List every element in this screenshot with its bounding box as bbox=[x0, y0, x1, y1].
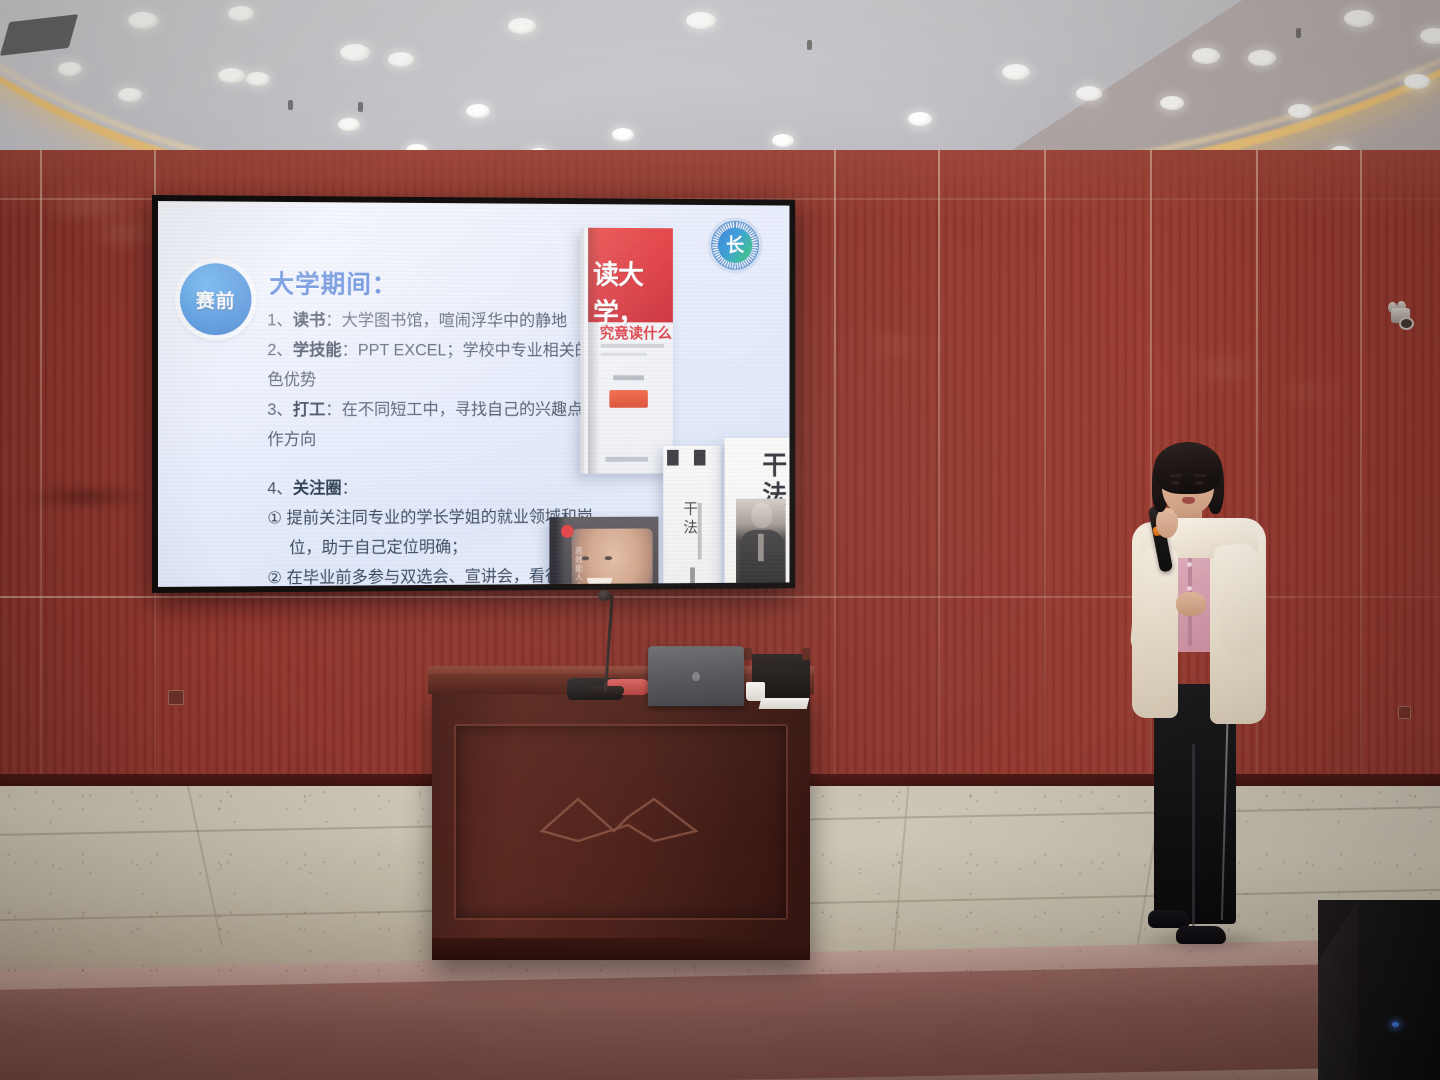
sprinkler-head bbox=[1296, 28, 1301, 38]
laptop-logo-icon bbox=[692, 672, 700, 681]
ceiling-downlight bbox=[612, 128, 634, 141]
wall-outlet bbox=[1398, 706, 1411, 719]
wall-seam bbox=[1360, 150, 1362, 790]
book-line bbox=[601, 344, 665, 348]
ceiling-downlight bbox=[466, 104, 490, 118]
wall-reflection bbox=[1180, 362, 1266, 376]
ceiling-downlight bbox=[1076, 86, 1102, 101]
ceiling-downlight bbox=[1420, 28, 1440, 44]
floor-foreground-band bbox=[0, 962, 1440, 1080]
floor-subwoofer bbox=[1318, 900, 1440, 1080]
ceiling-downlight bbox=[388, 52, 414, 67]
ceiling-downlight bbox=[340, 44, 370, 61]
book-cover-ganfa-portrait: 干法 bbox=[725, 438, 790, 587]
podium-front-panel bbox=[454, 724, 788, 920]
wall-seam bbox=[834, 150, 836, 790]
ceiling-downlight bbox=[118, 88, 142, 102]
person-hand bbox=[1176, 592, 1206, 616]
ceiling-downlight bbox=[686, 12, 716, 29]
wall-camera-lens bbox=[1399, 317, 1414, 330]
subwoofer-bevel bbox=[1318, 900, 1358, 1080]
book-cover-ganfa-white: 干法 bbox=[663, 446, 721, 587]
book-cover-du-daxue: 读大学， 究竟读什么 bbox=[580, 228, 672, 474]
gooseneck-microphone-head bbox=[598, 590, 611, 601]
portrait-smile bbox=[587, 578, 612, 587]
ceiling-downlight bbox=[772, 134, 794, 147]
projected-slide: 赛前 大学期间： 1、读书：大学图书馆，喧闹浮华中的静地2、学技能：PPT EX… bbox=[158, 201, 789, 587]
floor-grout-line bbox=[893, 786, 910, 956]
person-eye bbox=[1195, 481, 1204, 485]
portrait-tie bbox=[758, 534, 764, 561]
slide-line: 4、关注圈： bbox=[267, 472, 661, 503]
book-author-line bbox=[613, 375, 644, 380]
book-cover-seven-habits: 高效能人士的七个习惯 高效能人士的 7 七个习惯 bbox=[549, 517, 658, 587]
book-line bbox=[698, 503, 702, 560]
laptop[interactable] bbox=[648, 646, 744, 706]
ceiling-downlight bbox=[218, 68, 245, 83]
podium-base bbox=[432, 938, 810, 960]
wall-reflection bbox=[38, 198, 148, 214]
slide-title: 大学期间： bbox=[269, 265, 397, 301]
podium-shadow bbox=[16, 486, 156, 508]
person-mouth bbox=[1182, 497, 1195, 504]
ceiling-downlight bbox=[1288, 104, 1312, 118]
portrait-eye bbox=[605, 556, 613, 560]
book-spine bbox=[588, 228, 600, 474]
person-trouser-seam bbox=[1192, 744, 1195, 926]
person-shoe bbox=[1176, 926, 1226, 944]
book-mark bbox=[667, 450, 679, 466]
stage-badge-label: 赛前 bbox=[196, 286, 236, 313]
sprinkler-head bbox=[288, 100, 293, 110]
ceiling-downlight bbox=[246, 72, 270, 86]
speaker-person bbox=[1118, 444, 1298, 954]
podium-carving bbox=[536, 791, 706, 845]
wall-reflection bbox=[1274, 386, 1348, 398]
person-hair bbox=[1154, 442, 1222, 494]
person-shirt-button bbox=[1187, 562, 1192, 567]
sprinkler-head bbox=[807, 40, 812, 50]
ceiling-downlight bbox=[58, 62, 82, 76]
ceiling-downlight bbox=[1344, 10, 1374, 27]
podium-riser-post bbox=[744, 648, 752, 660]
projection-screen[interactable]: 赛前 大学期间： 1、读书：大学图书馆，喧闹浮华中的静地2、学技能：PPT EX… bbox=[152, 195, 795, 593]
book-line bbox=[690, 567, 695, 587]
book-title-main: 读大学， bbox=[593, 253, 673, 330]
ceiling-downlight bbox=[1192, 48, 1220, 64]
portrait-head bbox=[751, 502, 772, 528]
wall-seam bbox=[1044, 150, 1046, 790]
book-title: 干法 bbox=[680, 501, 700, 538]
book-sticker bbox=[561, 525, 574, 538]
stage-badge: 赛前 bbox=[180, 263, 252, 335]
book-publisher-line bbox=[605, 457, 647, 462]
book-sticker bbox=[609, 390, 648, 408]
person-shirt-button bbox=[1187, 586, 1192, 591]
ceiling-downlight bbox=[1160, 96, 1184, 110]
podium-carving-icon bbox=[536, 791, 706, 845]
presenter-podium[interactable] bbox=[432, 690, 810, 960]
floor-grout-line bbox=[187, 786, 223, 946]
lecture-hall-photo: 赛前 大学期间： 1、读书：大学图书馆，喧闹浮华中的静地2、学技能：PPT EX… bbox=[0, 0, 1440, 1080]
wall-reflection bbox=[860, 340, 930, 352]
wall-seam bbox=[40, 150, 42, 790]
book-mark bbox=[694, 450, 705, 466]
book-spine-text: 高效能人士的七个习惯 bbox=[574, 547, 585, 587]
wall-seam bbox=[938, 150, 940, 790]
university-seal-logo: 长 bbox=[709, 219, 761, 272]
ceiling-downlight bbox=[908, 112, 932, 126]
ceiling-downlight bbox=[508, 18, 536, 34]
podium-riser-post bbox=[802, 648, 810, 660]
subwoofer-power-led bbox=[1392, 1022, 1399, 1027]
ceiling-downlight bbox=[1002, 64, 1030, 80]
book-title-sub: 究竟读什么 bbox=[600, 322, 672, 343]
person-hand bbox=[1156, 508, 1178, 538]
ceiling-downlight bbox=[1404, 74, 1430, 89]
ceiling-downlight bbox=[338, 118, 360, 131]
wall-outlet bbox=[168, 690, 184, 705]
papers bbox=[759, 698, 810, 709]
ceiling-downlight bbox=[128, 12, 158, 29]
wall-camera bbox=[1386, 302, 1412, 326]
book-line bbox=[601, 353, 647, 356]
book-portrait-photo bbox=[736, 498, 786, 586]
person-eye bbox=[1171, 481, 1180, 485]
ceiling-downlight bbox=[1248, 50, 1276, 66]
ceiling-downlight bbox=[228, 6, 254, 21]
seal-monogram: 长 bbox=[718, 228, 752, 263]
sprinkler-head bbox=[358, 102, 363, 112]
